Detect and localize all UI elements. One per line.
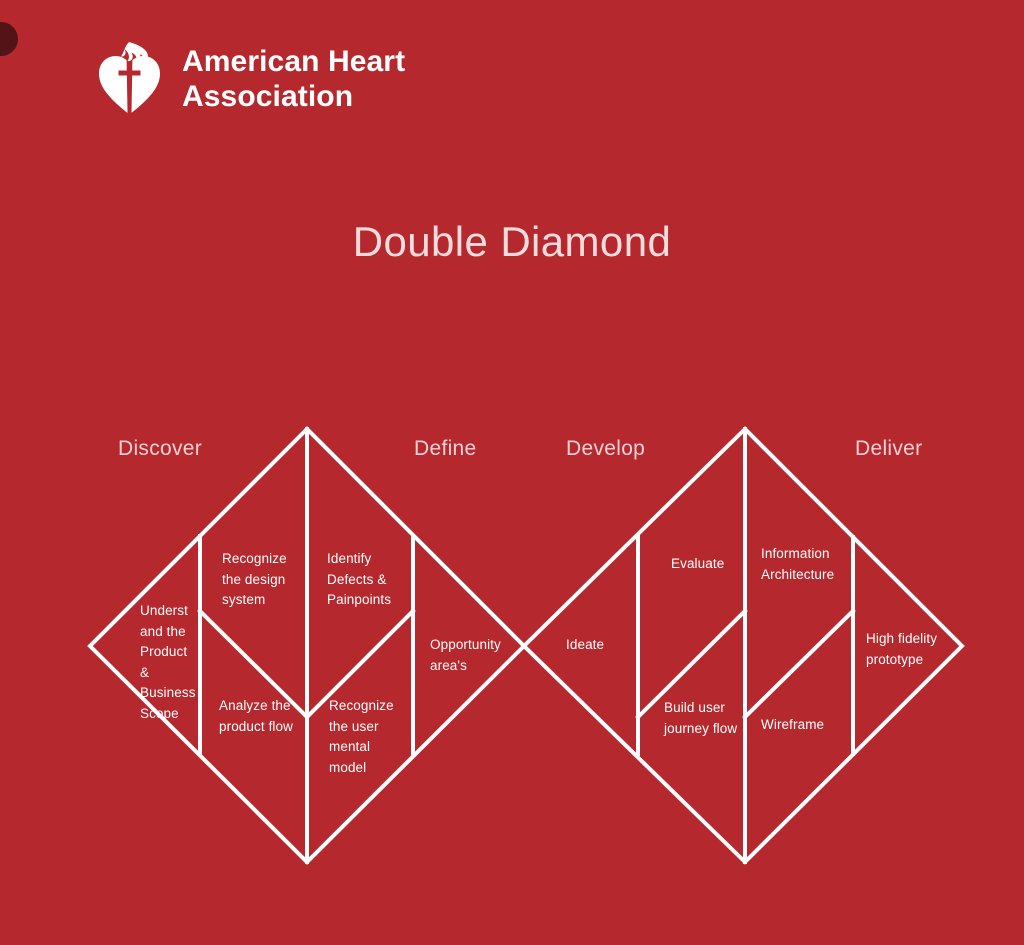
node-recognize-design-system: Recognize the design system — [222, 549, 308, 611]
double-diamond-diagram: Discover Define Develop Deliver Underst … — [0, 0, 1024, 945]
node-evaluate: Evaluate — [671, 554, 755, 575]
node-information-architecture: Information Architecture — [761, 544, 853, 585]
diamond-2-dividers — [638, 429, 853, 862]
node-understand-product-business-scope: Underst and the Product & Business Scope — [140, 601, 200, 724]
node-opportunity-areas: Opportunity area's — [430, 635, 522, 676]
node-recognize-user-mental-model: Recognize the user mental model — [329, 696, 411, 778]
node-analyze-product-flow: Analyze the product flow — [219, 696, 309, 737]
node-build-user-journey-flow: Build user journey flow — [664, 698, 744, 739]
node-high-fidelity-prototype: High fidelity prototype — [866, 629, 958, 670]
phase-label-develop: Develop — [566, 437, 645, 461]
node-identify-defects-painpoints: Identify Defects & Painpoints — [327, 549, 417, 611]
diamond-1-dividers — [200, 429, 413, 862]
phase-label-deliver: Deliver — [855, 437, 922, 461]
slide-canvas: American Heart Association Double Diamon… — [0, 0, 1024, 945]
node-wireframe: Wireframe — [761, 715, 853, 736]
node-ideate: Ideate — [566, 635, 636, 656]
phase-label-define: Define — [414, 437, 477, 461]
phase-label-discover: Discover — [118, 437, 202, 461]
